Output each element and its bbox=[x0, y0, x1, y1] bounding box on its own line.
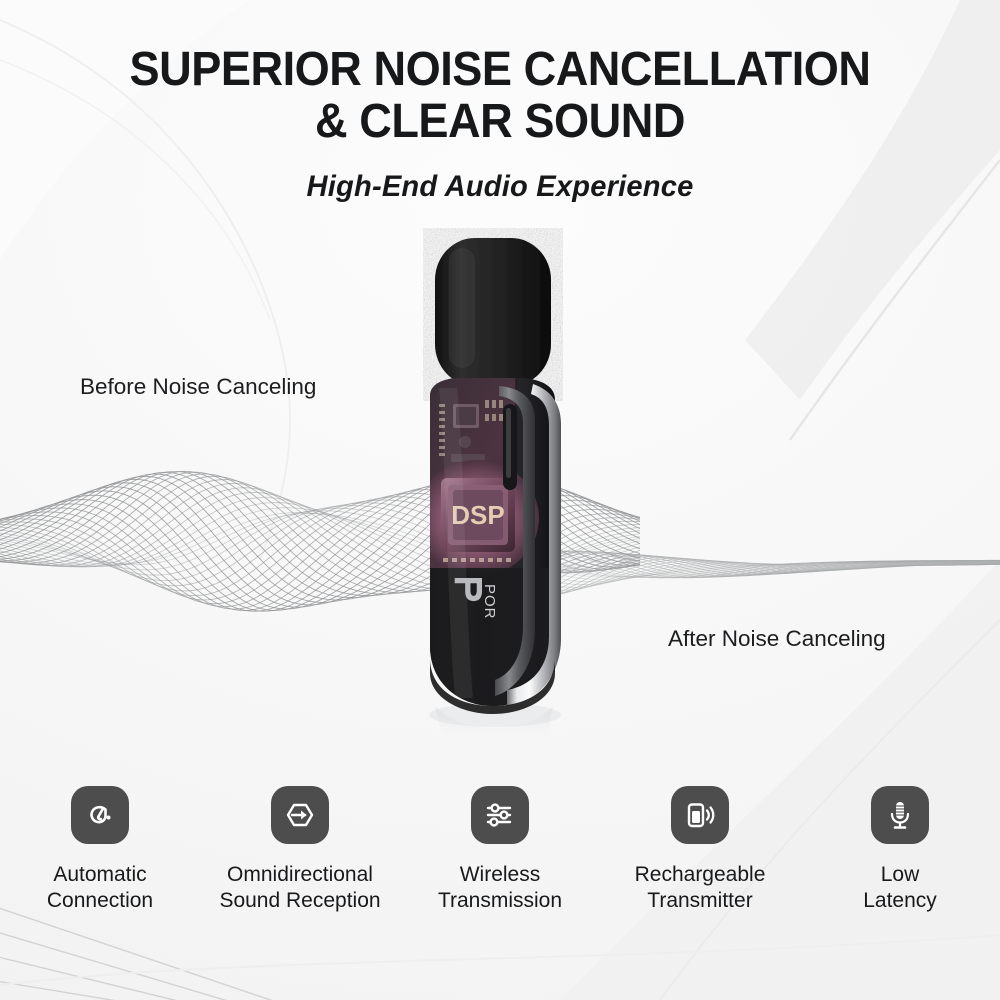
feature-item-rechargeable-transmitter[interactable]: Rechargeable Transmitter bbox=[600, 786, 800, 914]
feature-tile bbox=[71, 786, 129, 844]
brand-text: POR bbox=[481, 584, 498, 620]
feature-tile bbox=[871, 786, 929, 844]
feature-label: Wireless Transmission bbox=[438, 862, 562, 914]
after-noise-label: After Noise Canceling bbox=[668, 626, 886, 652]
battery-waves-icon bbox=[683, 798, 717, 832]
feature-tile bbox=[271, 786, 329, 844]
product-image: DSP POR bbox=[395, 228, 625, 748]
feature-row: Automatic Connection Omnidirectional Sou… bbox=[0, 786, 1000, 914]
mic-foam-windscreen bbox=[435, 238, 551, 386]
feature-tile bbox=[471, 786, 529, 844]
feature-item-low-latency[interactable]: Low Latency bbox=[800, 786, 1000, 914]
feature-tile bbox=[671, 786, 729, 844]
microphone-icon bbox=[883, 798, 917, 832]
poster-canvas: SUPERIOR NOISE CANCELLATION & CLEAR SOUN… bbox=[0, 0, 1000, 1000]
link-at-icon bbox=[83, 798, 117, 832]
feature-label: Low Latency bbox=[863, 862, 937, 914]
before-noise-label: Before Noise Canceling bbox=[80, 374, 316, 400]
feature-label: Rechargeable Transmitter bbox=[635, 862, 766, 914]
sliders-icon bbox=[483, 798, 517, 832]
feature-label: Omnidirectional Sound Reception bbox=[219, 862, 380, 914]
feature-item-automatic-connection[interactable]: Automatic Connection bbox=[0, 786, 200, 914]
waveform-after bbox=[560, 551, 1000, 594]
arrow-into-hexagon-icon bbox=[283, 798, 317, 832]
feature-item-wireless-transmission[interactable]: Wireless Transmission bbox=[400, 786, 600, 914]
feature-label: Automatic Connection bbox=[47, 862, 153, 914]
feature-item-omnidirectional-sound-reception[interactable]: Omnidirectional Sound Reception bbox=[200, 786, 400, 914]
